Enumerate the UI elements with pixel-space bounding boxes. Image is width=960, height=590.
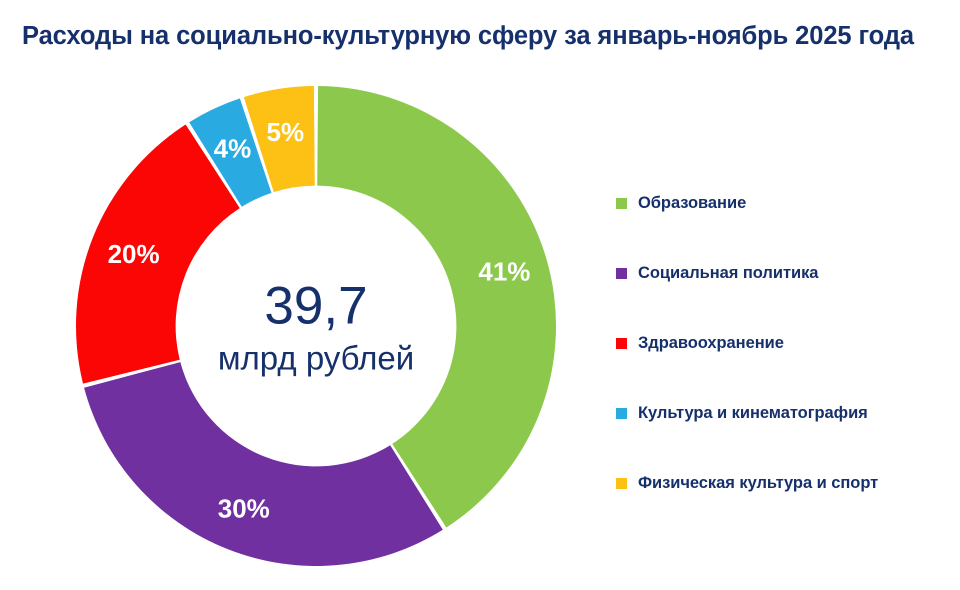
legend-item[interactable]: Здравоохранение [616, 308, 946, 378]
legend-item[interactable]: Социальная политика [616, 238, 946, 308]
legend-item[interactable]: Физическая культура и спорт [616, 448, 946, 518]
legend-item-label: Здравоохранение [638, 334, 784, 353]
center-total-unit: млрд рублей [218, 340, 414, 377]
center-total-value: 39,7 [264, 277, 367, 336]
slice-value-label: 5% [267, 117, 305, 147]
page-title: Расходы на социально-культурную сферу за… [22, 22, 942, 51]
legend-item-label: Физическая культура и спорт [638, 474, 878, 493]
chart-page: Расходы на социально-культурную сферу за… [0, 0, 960, 590]
slice-value-label: 20% [108, 239, 160, 269]
chart-legend: ОбразованиеСоциальная политикаЗдравоохра… [616, 168, 946, 518]
legend-item[interactable]: Образование [616, 168, 946, 238]
donut-svg: 41%30%20%4%5% 39,7 млрд рублей [72, 82, 560, 570]
legend-item-label: Образование [638, 194, 746, 213]
slice-value-label: 41% [478, 256, 530, 286]
slice-value-label: 4% [214, 133, 252, 163]
legend-item[interactable]: Культура и кинематография [616, 378, 946, 448]
donut-chart: 41%30%20%4%5% 39,7 млрд рублей [72, 82, 560, 570]
legend-item-label: Социальная политика [638, 264, 818, 283]
donut-slice[interactable] [84, 362, 443, 566]
legend-item-label: Культура и кинематография [638, 404, 868, 423]
slice-value-label: 30% [218, 493, 270, 523]
legend-swatch-icon [616, 198, 627, 209]
legend-swatch-icon [616, 408, 627, 419]
legend-swatch-icon [616, 478, 627, 489]
legend-swatch-icon [616, 268, 627, 279]
legend-swatch-icon [616, 338, 627, 349]
